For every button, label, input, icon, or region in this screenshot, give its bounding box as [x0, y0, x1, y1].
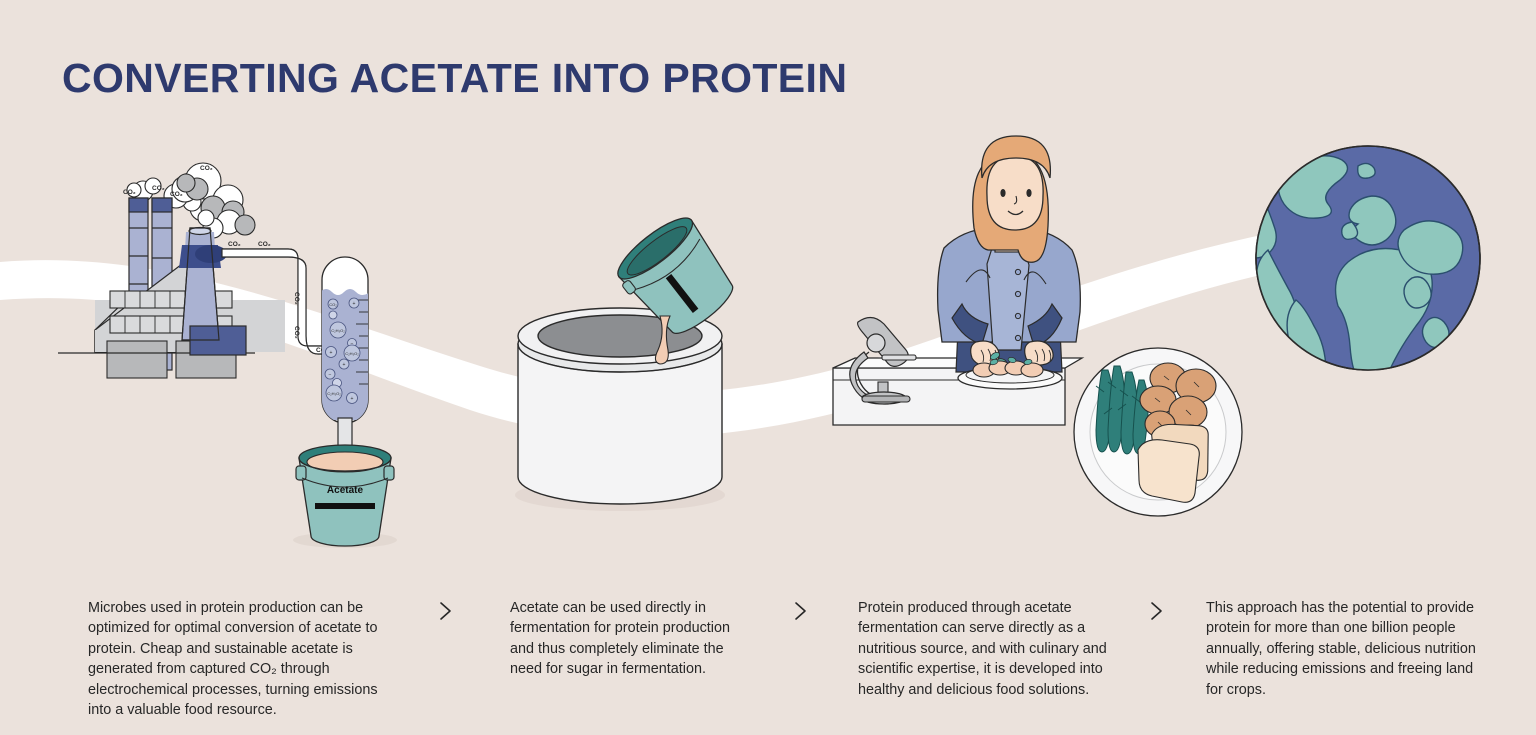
chef-eye-left	[1000, 189, 1005, 197]
svg-text:C₂H₃O₂: C₂H₃O₂	[345, 351, 359, 356]
co2-label: CO₂	[228, 241, 241, 248]
infographic-page: CO₂ CO₂ CO₂ CO₂ CO₂	[0, 0, 1536, 735]
plate-of-food	[1074, 348, 1242, 516]
page-title: CONVERTING ACETATE INTO PROTEIN	[62, 55, 847, 102]
chef-figure	[938, 136, 1081, 372]
co2-label: CO₂	[123, 189, 136, 196]
acetate-bucket: Acetate	[293, 445, 397, 548]
svg-text:−: −	[329, 372, 332, 378]
svg-text:C₂H₃O₂: C₂H₃O₂	[331, 328, 345, 333]
chef-eye-right	[1026, 189, 1031, 197]
chef-face	[987, 156, 1043, 230]
step-caption-3: Protein produced through acetate ferment…	[858, 598, 1126, 700]
bucket-label: Acetate	[327, 485, 364, 496]
fermentation-tank	[515, 308, 725, 511]
bucket-stripe	[315, 503, 375, 509]
svg-text:+: +	[330, 350, 333, 356]
microscope-base	[862, 396, 910, 402]
co2-label: CO₂	[200, 165, 213, 172]
chevron-right-icon	[435, 598, 457, 624]
factory-illustration: CO₂ CO₂ CO₂ CO₂ CO₂	[58, 163, 333, 378]
chef-scene	[833, 136, 1082, 425]
svg-text:CO₂: CO₂	[329, 302, 337, 307]
microscope-stage	[882, 355, 916, 360]
co2-label: CO₂	[152, 185, 165, 192]
co2-label: CO₂	[293, 326, 300, 339]
svg-text:+: +	[353, 301, 356, 307]
earth-globe	[1231, 146, 1480, 394]
svg-text:−: −	[351, 341, 354, 347]
step-caption-4: This approach has the potential to provi…	[1206, 598, 1481, 700]
co2-label: CO₂	[258, 241, 271, 248]
co2-label: CO₂	[170, 191, 183, 198]
chevron-right-icon	[790, 598, 812, 624]
svg-text:C₂H₃O₂: C₂H₃O₂	[327, 391, 341, 396]
bucket-lug-right	[384, 466, 394, 480]
svg-text:+: +	[343, 362, 346, 368]
co2-label: CO₂	[293, 292, 300, 305]
bucket-lug-left	[296, 466, 306, 480]
svg-text:+: +	[351, 396, 354, 402]
chevron-right-icon	[1146, 598, 1168, 624]
step-caption-2: Acetate can be used directly in fermenta…	[510, 598, 755, 680]
step-caption-1: Microbes used in protein production can …	[88, 598, 398, 721]
